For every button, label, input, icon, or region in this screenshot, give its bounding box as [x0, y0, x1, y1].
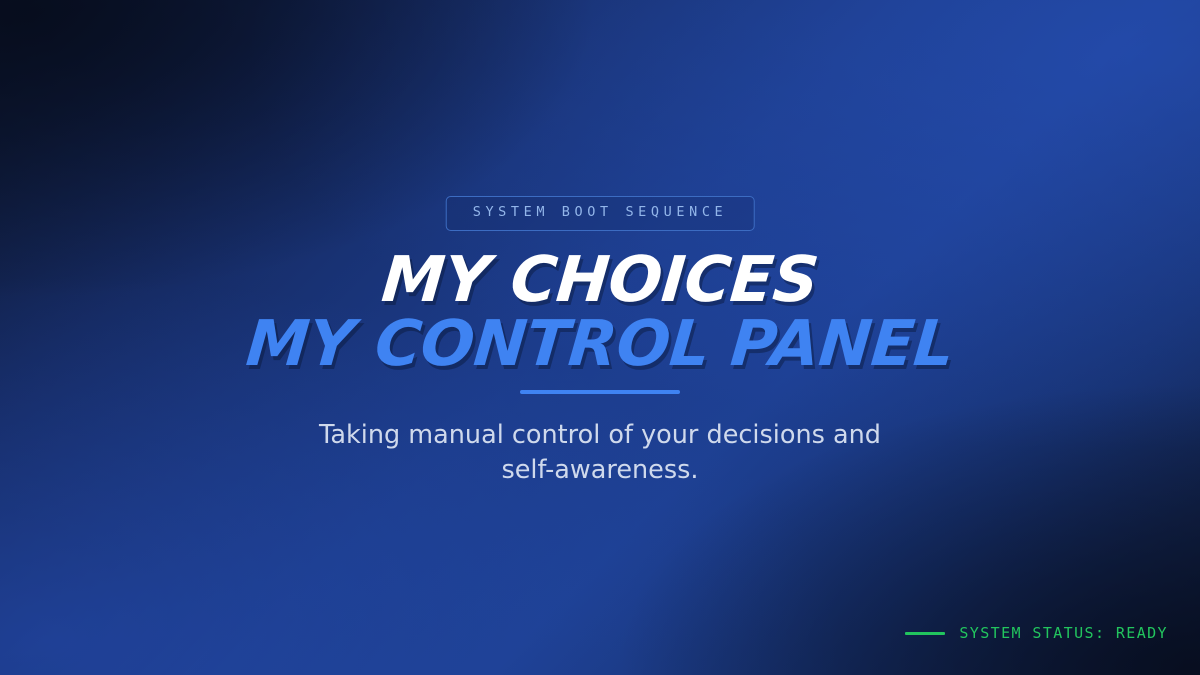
dash-icon: [905, 632, 945, 635]
slide-content: SYSTEM BOOT SEQUENCE MY CHOICES MY CONTR…: [0, 0, 1200, 675]
status-badge: SYSTEM STATUS: READY: [905, 626, 1168, 641]
status-label: SYSTEM STATUS: READY: [959, 626, 1168, 641]
page-title-line-2: MY CONTROL PANEL: [0, 312, 1200, 376]
subtitle-text: Taking manual control of your decisions …: [300, 418, 900, 488]
page-title-line-1: MY CHOICES: [0, 248, 1200, 312]
title-divider: [520, 390, 680, 394]
badge-system-boot-sequence: SYSTEM BOOT SEQUENCE: [446, 196, 755, 231]
slide-canvas: SYSTEM BOOT SEQUENCE MY CHOICES MY CONTR…: [0, 0, 1200, 675]
page-title: MY CHOICES MY CONTROL PANEL: [0, 248, 1200, 376]
